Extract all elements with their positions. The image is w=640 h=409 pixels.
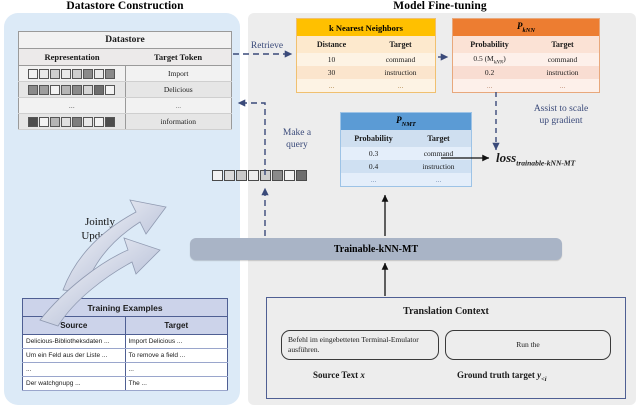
- pknn-col-target: Target: [526, 36, 600, 53]
- vector-cell-3: [248, 170, 259, 181]
- query-representation-vector: [212, 170, 307, 181]
- knn-distance-0: 10: [297, 53, 367, 66]
- vector-cell-4: [260, 170, 271, 181]
- pknn-target-1: instruction: [526, 66, 600, 79]
- make-query-label: Make a query: [262, 128, 332, 152]
- knn-col-distance: Distance: [297, 36, 367, 53]
- knn-distance-2: ...: [297, 79, 367, 93]
- training-col-source: Source: [23, 317, 126, 335]
- table-row: 0.2 instruction: [453, 66, 600, 79]
- vector-cell-2: [50, 117, 60, 127]
- table-row: ... ...: [453, 79, 600, 93]
- target-text-bubble[interactable]: Run the: [445, 330, 611, 360]
- training-target-1: To remove a field ...: [125, 349, 228, 363]
- pknn-title-sub: kNN: [523, 27, 535, 34]
- datastore-title: Datastore: [19, 32, 232, 49]
- jointly-updated-label: Jointly Updated: [56, 215, 144, 244]
- pknn-col-probability: Probability: [453, 36, 527, 53]
- pnmt-col-target: Target: [406, 130, 472, 147]
- datastore-token-2: ...: [125, 98, 232, 114]
- training-examples-table: Training Examples Source Target Deliciou…: [22, 298, 228, 391]
- make-query-line-2: query: [262, 140, 332, 152]
- pnmt-target-2: ...: [406, 173, 472, 187]
- table-row: 30 instruction: [297, 66, 436, 79]
- datastore-representation-0: [19, 66, 126, 82]
- retrieve-label: Retrieve: [236, 41, 298, 53]
- vector-cell-0: [28, 69, 38, 79]
- training-target-0: Import Delicious ...: [125, 335, 228, 349]
- section-title-datastore-construction: Datastore Construction: [30, 0, 220, 12]
- trainable-knn-mt-label: Trainable-kNN-MT: [334, 244, 418, 255]
- source-text-bubble[interactable]: Befehl im eingebetteten Terminal-Emulato…: [281, 330, 439, 360]
- training-source-3: Der watchgnupg ...: [23, 377, 126, 391]
- pknn-probability-2: ...: [453, 79, 527, 93]
- datastore-representation-3: [19, 114, 126, 130]
- table-row: Der watchgnupg ... The ...: [23, 377, 228, 391]
- table-row: Delicious-Bibliotheksdaten ... Import De…: [23, 335, 228, 349]
- k-nearest-neighbors-table: k Nearest Neighbors Distance Target 10 c…: [296, 18, 436, 93]
- vector-cell-3: [61, 117, 71, 127]
- translation-context-title: Translation Context: [267, 306, 625, 317]
- table-row: 0.3 command: [341, 147, 472, 160]
- datastore-table: Datastore Representation Target Token Im…: [18, 31, 232, 130]
- pknn-prob-tail: ): [503, 54, 506, 63]
- vector-cell-6: [94, 117, 104, 127]
- vector-cell-7: [105, 117, 115, 127]
- vector-cell-5: [272, 170, 283, 181]
- knn-target-1: instruction: [366, 66, 436, 79]
- target-text-value: Run the: [516, 340, 540, 350]
- knn-col-target: Target: [366, 36, 436, 53]
- vector-cell-0: [28, 85, 38, 95]
- vector-cell-6: [284, 170, 295, 181]
- vector-cell-6: [94, 85, 104, 95]
- translation-context-box: Translation Context Befehl im eingebette…: [266, 297, 626, 399]
- vector-cell-7: [105, 85, 115, 95]
- vector-cell-6: [94, 69, 104, 79]
- pnmt-probability-0: 0.3: [341, 147, 407, 160]
- vector-cell-1: [39, 85, 49, 95]
- pknn-probability-0: 0.5 (MkNN): [453, 53, 527, 66]
- vector-cell-5: [83, 85, 93, 95]
- datastore-col-representation: Representation: [19, 49, 126, 66]
- target-caption-text: Ground truth target: [457, 370, 537, 380]
- make-query-line-1: Make a: [262, 128, 332, 140]
- training-examples-title: Training Examples: [23, 299, 228, 317]
- source-text-value: Befehl im eingebetteten Terminal-Emulato…: [288, 335, 419, 354]
- pnmt-target-1: instruction: [406, 160, 472, 173]
- table-row: 0.5 (MkNN) command: [453, 53, 600, 66]
- assist-line-1: Assist to scale: [506, 104, 616, 116]
- vector-cell-0: [212, 170, 223, 181]
- trainable-knn-mt-box[interactable]: Trainable-kNN-MT: [190, 238, 562, 260]
- training-source-2: ...: [23, 363, 126, 377]
- vector-cell-1: [39, 117, 49, 127]
- pknn-title: PkNN: [453, 19, 600, 37]
- pknn-prob-sub: kNN: [494, 59, 503, 65]
- vector-cell-2: [50, 69, 60, 79]
- section-title-model-finetuning: Model Fine-tuning: [340, 0, 540, 12]
- pknn-probability-1: 0.2: [453, 66, 527, 79]
- training-source-0: Delicious-Bibliotheksdaten ...: [23, 335, 126, 349]
- vector-cell-5: [83, 117, 93, 127]
- table-row: Import: [19, 66, 232, 82]
- assist-line-2: up gradient: [506, 116, 616, 128]
- representation-vector: [19, 84, 125, 96]
- source-text-caption: Source Text x: [313, 370, 365, 380]
- pnmt-col-probability: Probability: [341, 130, 407, 147]
- loss-text: loss: [496, 150, 516, 165]
- datastore-token-0: Import: [125, 66, 232, 82]
- pnmt-probability-2: ...: [341, 173, 407, 187]
- representation-vector: [19, 68, 125, 80]
- training-col-target: Target: [125, 317, 228, 335]
- source-caption-text: Source Text: [313, 370, 360, 380]
- table-row: 0.4 instruction: [341, 160, 472, 173]
- vector-cell-1: [39, 69, 49, 79]
- table-row: ... ...: [341, 173, 472, 187]
- vector-cell-3: [61, 85, 71, 95]
- knn-title: k Nearest Neighbors: [297, 19, 436, 37]
- table-row: Um ein Feld aus der Liste ... To remove …: [23, 349, 228, 363]
- pknn-target-2: ...: [526, 79, 600, 93]
- vector-cell-5: [83, 69, 93, 79]
- vector-cell-7: [105, 69, 115, 79]
- pknn-prob-main: 0.5 (M: [473, 54, 493, 63]
- table-row: ... ...: [23, 363, 228, 377]
- training-target-3: The ...: [125, 377, 228, 391]
- pnmt-title: PNMT: [341, 113, 472, 131]
- vector-cell-4: [72, 69, 82, 79]
- vector-cell-1: [224, 170, 235, 181]
- datastore-representation-2: ...: [19, 98, 126, 114]
- table-row: 10 command: [297, 53, 436, 66]
- jointly-line-1: Jointly: [56, 215, 144, 229]
- assist-scale-gradient-label: Assist to scale up gradient: [506, 104, 616, 128]
- table-row: ... ...: [297, 79, 436, 93]
- vector-cell-0: [28, 117, 38, 127]
- vector-cell-4: [72, 85, 82, 95]
- training-source-1: Um ein Feld aus der Liste ...: [23, 349, 126, 363]
- datastore-token-3: information: [125, 114, 232, 130]
- training-target-2: ...: [125, 363, 228, 377]
- datastore-token-1: Delicious: [125, 82, 232, 98]
- datastore-col-target-token: Target Token: [125, 49, 232, 66]
- target-text-caption: Ground truth target y<i: [457, 370, 547, 383]
- table-row: ... ...: [19, 98, 232, 114]
- pknn-table: PkNN Probability Target 0.5 (MkNN) comma…: [452, 18, 600, 93]
- pnmt-target-0: command: [406, 147, 472, 160]
- datastore-representation-1: [19, 82, 126, 98]
- knn-target-2: ...: [366, 79, 436, 93]
- pnmt-probability-1: 0.4: [341, 160, 407, 173]
- knn-distance-1: 30: [297, 66, 367, 79]
- table-row: Delicious: [19, 82, 232, 98]
- target-caption-sub: <i: [541, 376, 546, 383]
- vector-cell-7: [296, 170, 307, 181]
- vector-cell-3: [61, 69, 71, 79]
- loss-label: losstrainable-kNN-MT: [496, 150, 575, 168]
- vector-cell-2: [50, 85, 60, 95]
- source-caption-var: x: [360, 370, 365, 380]
- knn-target-0: command: [366, 53, 436, 66]
- loss-subscript: trainable-kNN-MT: [516, 159, 575, 168]
- pknn-target-0: command: [526, 53, 600, 66]
- jointly-line-2: Updated: [56, 229, 144, 243]
- vector-cell-2: [236, 170, 247, 181]
- representation-vector: [19, 116, 125, 128]
- pnmt-title-sub: NMT: [402, 121, 416, 128]
- vector-cell-4: [72, 117, 82, 127]
- table-row: information: [19, 114, 232, 130]
- pnmt-table: PNMT Probability Target 0.3 command 0.4 …: [340, 112, 472, 187]
